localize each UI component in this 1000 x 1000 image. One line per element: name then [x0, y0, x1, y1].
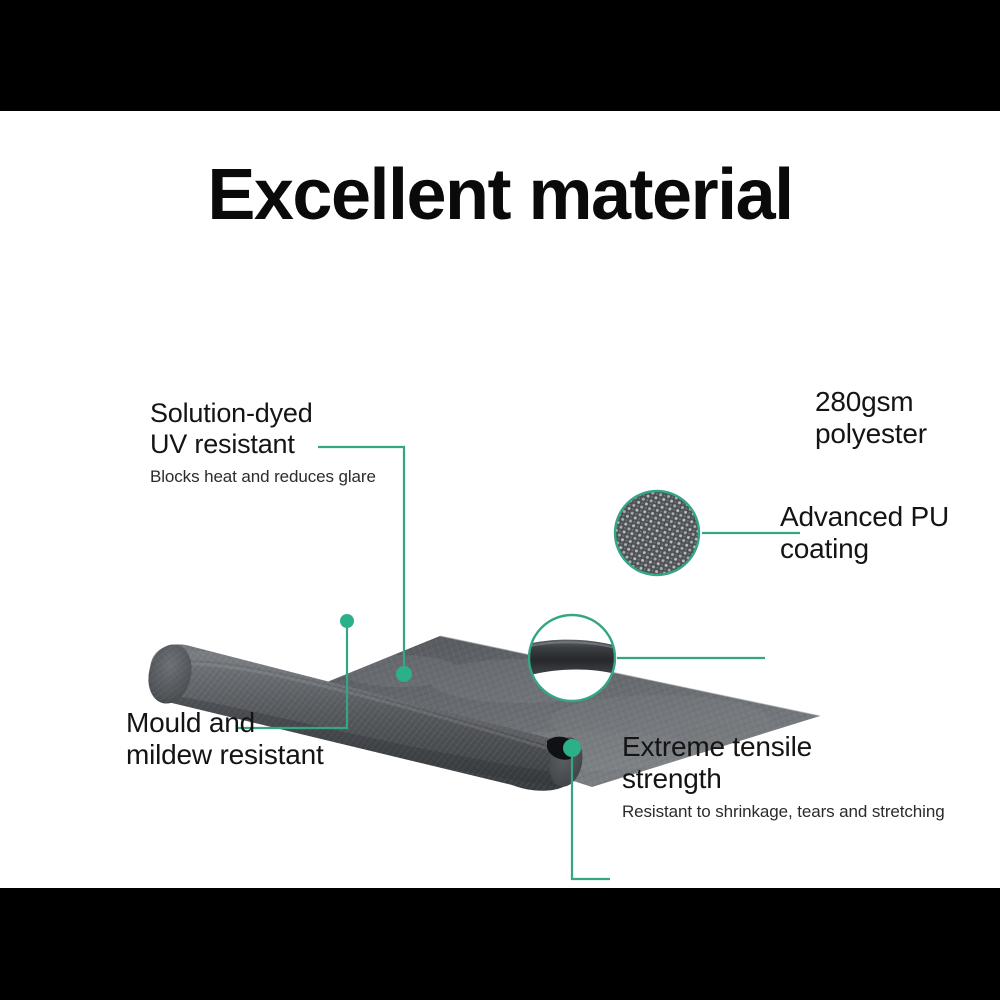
- leader-dot-tensile: [563, 739, 581, 757]
- callout-mould: Mould and mildew resistant: [126, 707, 324, 772]
- callout-gsm-title-line2: polyester: [815, 418, 927, 450]
- letterbox-bar-bottom: [0, 888, 1000, 1000]
- callout-pu-title-line1: Advanced PU: [780, 501, 949, 533]
- product-infographic: Excellent material: [0, 0, 1000, 1000]
- callout-pu: Advanced PU coating: [780, 501, 949, 566]
- callout-tensile-title-line1: Extreme tensile: [622, 731, 945, 763]
- leader-dot-uv: [396, 666, 412, 682]
- weave-swatch-circle: [615, 491, 699, 575]
- callout-gsm-title-line1: 280gsm: [815, 386, 927, 418]
- callout-uv-subtitle: Blocks heat and reduces glare: [150, 466, 376, 488]
- callout-uv-title-line2: UV resistant: [150, 429, 376, 460]
- callout-uv: Solution-dyed UV resistant Blocks heat a…: [150, 398, 376, 488]
- infographic-canvas: Excellent material: [0, 111, 1000, 888]
- callout-gsm: 280gsm polyester: [815, 386, 927, 451]
- letterbox-bar-top: [0, 0, 1000, 111]
- callout-mould-title-line2: mildew resistant: [126, 739, 324, 771]
- callout-tensile-subtitle: Resistant to shrinkage, tears and stretc…: [622, 801, 945, 823]
- callout-pu-title-line2: coating: [780, 533, 949, 565]
- callout-mould-title-line1: Mould and: [126, 707, 324, 739]
- leader-dot-mould: [340, 614, 354, 628]
- callout-tensile-title-line2: strength: [622, 763, 945, 795]
- callout-tensile: Extreme tensile strength Resistant to sh…: [622, 731, 945, 823]
- callout-uv-title-line1: Solution-dyed: [150, 398, 376, 429]
